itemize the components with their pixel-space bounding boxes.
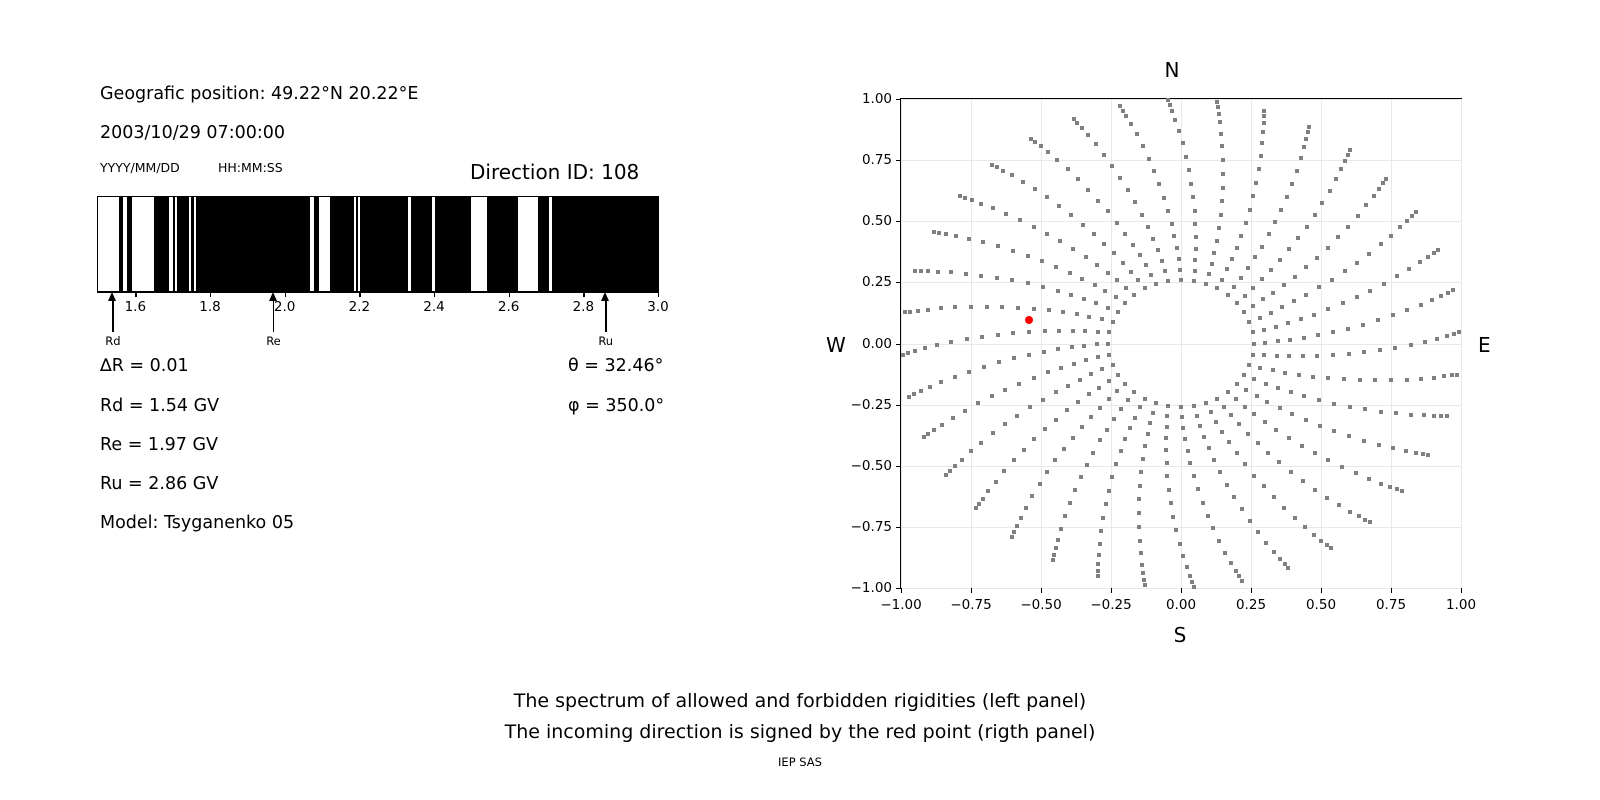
- direction-point: [1096, 562, 1100, 566]
- direction-point: [1043, 427, 1047, 431]
- direction-point: [949, 340, 953, 344]
- x-tick-label: −0.50: [1020, 597, 1061, 613]
- direction-point: [1218, 120, 1222, 124]
- direction-point: [1239, 276, 1243, 280]
- direction-point: [1084, 255, 1088, 259]
- direction-point: [1116, 310, 1120, 314]
- direction-point: [1062, 447, 1066, 451]
- direction-point: [1452, 332, 1456, 336]
- direction-point: [1016, 306, 1020, 310]
- direction-point: [1263, 341, 1267, 345]
- direction-point: [1180, 415, 1184, 419]
- direction-point: [1339, 167, 1343, 171]
- direction-point: [1361, 323, 1365, 327]
- direction-point: [1275, 354, 1279, 358]
- direction-point: [1096, 355, 1100, 359]
- direction-point: [1144, 263, 1148, 267]
- direction-point: [1193, 269, 1197, 273]
- direction-point: [1135, 132, 1139, 136]
- direction-point: [1435, 337, 1439, 341]
- direction-point: [979, 441, 983, 445]
- direction-point: [923, 346, 927, 350]
- x-tick-mark: [1321, 588, 1322, 593]
- direction-point: [1355, 261, 1359, 265]
- direction-point: [1257, 167, 1261, 171]
- direction-point: [1237, 574, 1241, 578]
- direction-point: [1246, 432, 1250, 436]
- direction-point: [1409, 343, 1413, 347]
- direction-point: [982, 365, 986, 369]
- direction-point: [1244, 221, 1248, 225]
- direction-point: [1261, 130, 1265, 134]
- direction-point: [1409, 413, 1413, 417]
- direction-point: [1348, 148, 1352, 152]
- direction-point: [1226, 390, 1230, 394]
- direction-point: [1343, 269, 1347, 273]
- direction-point: [1215, 239, 1219, 243]
- direction-point: [1107, 397, 1111, 401]
- direction-point: [1026, 281, 1030, 285]
- direction-point: [1201, 501, 1205, 505]
- param-phi: φ = 350.0°: [568, 396, 664, 416]
- direction-point: [1076, 400, 1080, 404]
- direction-point: [1021, 180, 1025, 184]
- direction-point: [1166, 209, 1170, 213]
- rigidity-spectrum-bar: [97, 196, 659, 292]
- direction-point: [1391, 446, 1395, 450]
- direction-point: [1085, 463, 1089, 467]
- direction-point: [1003, 388, 1007, 392]
- direction-point: [1143, 444, 1147, 448]
- direction-point: [1313, 213, 1317, 217]
- param-ru: Ru = 2.86 GV: [100, 474, 218, 494]
- axis-tick: [135, 292, 136, 297]
- direction-point: [1140, 213, 1144, 217]
- direction-point: [1190, 580, 1194, 584]
- direction-point: [1234, 397, 1238, 401]
- direction-point: [1430, 298, 1434, 302]
- direction-point: [1332, 429, 1336, 433]
- direction-point: [1373, 378, 1377, 382]
- gridline-horizontal: [901, 160, 1461, 161]
- direction-point: [1043, 329, 1047, 333]
- direction-point: [1181, 141, 1185, 145]
- direction-point: [1269, 311, 1273, 315]
- direction-point: [1052, 553, 1056, 557]
- direction-point: [964, 272, 968, 276]
- direction-point: [1274, 325, 1278, 329]
- axis-tick: [583, 292, 584, 297]
- direction-point: [1188, 461, 1192, 465]
- direction-point: [1124, 286, 1128, 290]
- direction-point: [1028, 405, 1032, 409]
- direction-point: [1022, 448, 1026, 452]
- direction-point: [1104, 502, 1108, 506]
- direction-point: [1082, 297, 1086, 301]
- direction-point: [1192, 279, 1196, 283]
- direction-point: [1251, 330, 1255, 334]
- direction-point: [1326, 246, 1330, 250]
- direction-point: [1063, 514, 1067, 518]
- direction-point: [1162, 196, 1166, 200]
- direction-point: [1287, 247, 1291, 251]
- direction-point: [1262, 109, 1266, 113]
- forbidden-band: [435, 197, 471, 291]
- direction-point: [970, 198, 974, 202]
- direction-point: [1267, 232, 1271, 236]
- direction-point: [1379, 242, 1383, 246]
- direction-point: [1054, 418, 1058, 422]
- direction-point: [913, 349, 917, 353]
- direction-point: [940, 423, 944, 427]
- direction-point: [1095, 342, 1099, 346]
- direction-point: [1256, 530, 1260, 534]
- direction-point: [1188, 574, 1192, 578]
- direction-point: [1089, 372, 1093, 376]
- direction-point: [1032, 307, 1036, 311]
- direction-point: [1219, 213, 1223, 217]
- x-tick-mark: [1041, 588, 1042, 593]
- direction-point: [1115, 278, 1119, 282]
- direction-point: [1015, 524, 1019, 528]
- direction-point: [1278, 406, 1282, 410]
- direction-point: [969, 305, 973, 309]
- direction-point: [1220, 199, 1224, 203]
- direction-point: [1126, 188, 1130, 192]
- direction-point: [1133, 416, 1137, 420]
- gridline-horizontal: [901, 466, 1461, 467]
- direction-point: [1012, 356, 1016, 360]
- direction-point: [1282, 283, 1286, 287]
- direction-point: [1140, 563, 1144, 567]
- direction-point: [1116, 373, 1120, 377]
- direction-point: [1384, 177, 1388, 181]
- direction-point: [1204, 401, 1208, 405]
- direction-point: [1379, 410, 1383, 414]
- direction-point: [1272, 495, 1276, 499]
- direction-point: [1418, 260, 1422, 264]
- direction-point: [1179, 405, 1183, 409]
- direction-point: [979, 202, 983, 206]
- direction-point: [1455, 373, 1459, 377]
- direction-point: [995, 276, 999, 280]
- direction-id-label: Direction ID: 108: [470, 160, 639, 184]
- axis-tick: [359, 292, 360, 297]
- direction-point: [1107, 353, 1111, 357]
- direction-point: [1143, 583, 1147, 587]
- direction-point: [1219, 132, 1223, 136]
- direction-point: [913, 269, 917, 273]
- direction-point: [1185, 565, 1189, 569]
- direction-point: [1169, 501, 1173, 505]
- direction-point: [1265, 400, 1269, 404]
- direction-point: [1313, 488, 1317, 492]
- direction-point: [1045, 195, 1049, 199]
- direction-point: [1247, 363, 1251, 367]
- direction-point: [958, 194, 962, 198]
- direction-point: [1096, 574, 1100, 578]
- direction-point: [1177, 129, 1181, 133]
- direction-point: [1302, 394, 1306, 398]
- incoming-direction-marker: [1025, 316, 1033, 324]
- rigidity-spectrum-panel: Geografic position: 49.22°N 20.22°E 2003…: [0, 0, 760, 660]
- x-tick-label: 0.50: [1306, 597, 1336, 613]
- direction-point: [1165, 414, 1169, 418]
- direction-point: [1251, 194, 1255, 198]
- direction-point: [1054, 265, 1058, 269]
- direction-point: [1071, 436, 1075, 440]
- forbidden-band: [191, 197, 194, 291]
- direction-point: [1260, 141, 1264, 145]
- direction-point: [1040, 259, 1044, 263]
- direction-point: [1202, 435, 1206, 439]
- direction-point: [1254, 181, 1258, 185]
- direction-point: [1312, 313, 1316, 317]
- direction-point: [1261, 297, 1265, 301]
- direction-point: [1326, 307, 1330, 311]
- direction-point: [1165, 425, 1169, 429]
- x-tick-label: −0.75: [950, 597, 991, 613]
- direction-point: [1389, 234, 1393, 238]
- direction-point: [1059, 366, 1063, 370]
- compass-north-label: N: [1165, 58, 1180, 82]
- direction-point: [1154, 401, 1158, 405]
- axis-tick: [509, 292, 510, 297]
- direction-point: [1259, 154, 1263, 158]
- direction-point: [1252, 474, 1256, 478]
- direction-point: [1123, 301, 1127, 305]
- x-tick-mark: [1181, 588, 1182, 593]
- axis-tick-label: 2.2: [349, 299, 370, 315]
- forbidden-band: [127, 197, 131, 291]
- direction-point: [1446, 291, 1450, 295]
- direction-point: [1168, 103, 1172, 107]
- direction-point: [954, 234, 958, 238]
- forbidden-band: [552, 197, 658, 291]
- direction-point: [1262, 114, 1266, 118]
- direction-point: [1326, 458, 1330, 462]
- direction-point: [1137, 525, 1141, 529]
- direction-point: [1280, 305, 1284, 309]
- direction-point: [939, 380, 943, 384]
- direction-point: [1096, 199, 1100, 203]
- y-tick-label: −0.25: [851, 397, 892, 413]
- direction-point: [1290, 182, 1294, 186]
- direction-point: [1262, 328, 1266, 332]
- x-tick-mark: [1111, 588, 1112, 593]
- y-tick-label: 0.25: [862, 274, 892, 290]
- direction-point: [1271, 368, 1275, 372]
- direction-point: [1317, 285, 1321, 289]
- direction-point: [951, 416, 955, 420]
- direction-point: [1033, 140, 1037, 144]
- direction-point: [1119, 407, 1123, 411]
- y-tick-label: 0.00: [862, 336, 892, 352]
- y-tick-label: 0.50: [862, 213, 892, 229]
- direction-point: [1423, 340, 1427, 344]
- gridline-horizontal: [901, 527, 1461, 528]
- direction-point: [1068, 501, 1072, 505]
- direction-point: [1003, 422, 1007, 426]
- direction-point: [1099, 529, 1103, 533]
- direction-point: [1277, 460, 1281, 464]
- direction-point: [974, 506, 978, 510]
- direction-point: [1227, 440, 1231, 444]
- direction-point: [1264, 382, 1268, 386]
- direction-point: [1439, 414, 1443, 418]
- direction-point: [1165, 474, 1169, 478]
- direction-point: [1248, 208, 1252, 212]
- y-tick-mark: [896, 160, 901, 161]
- direction-point: [1081, 223, 1085, 227]
- y-tick-mark: [896, 344, 901, 345]
- direction-point: [1010, 278, 1014, 282]
- compass-east-label: E: [1478, 333, 1491, 357]
- direction-point: [1111, 363, 1115, 367]
- direction-point: [1193, 222, 1197, 226]
- direction-point: [908, 310, 912, 314]
- caption-line-2: The incoming direction is signed by the …: [0, 717, 1600, 748]
- direction-point: [1356, 214, 1360, 218]
- direction-point: [1363, 518, 1367, 522]
- axis-tick-label: 2.6: [498, 299, 519, 315]
- direction-point: [1331, 330, 1335, 334]
- direction-point: [1405, 378, 1409, 382]
- direction-point: [1252, 342, 1256, 346]
- axis-tick: [658, 292, 659, 297]
- direction-point: [1355, 295, 1359, 299]
- direction-point: [944, 473, 948, 477]
- direction-point: [1251, 353, 1255, 357]
- direction-point: [965, 337, 969, 341]
- direction-point: [1105, 428, 1109, 432]
- direction-point: [1198, 424, 1202, 428]
- param-re: Re = 1.97 GV: [100, 435, 218, 455]
- direction-point: [1206, 514, 1210, 518]
- direction-point: [1129, 270, 1133, 274]
- forbidden-band: [196, 197, 311, 291]
- direction-point: [1138, 484, 1142, 488]
- direction-point: [1253, 255, 1257, 259]
- direction-point: [1393, 346, 1397, 350]
- direction-point: [1269, 268, 1273, 272]
- direction-point: [1216, 105, 1220, 109]
- direction-point: [1186, 449, 1190, 453]
- direction-point: [1303, 525, 1307, 529]
- direction-point: [1075, 121, 1079, 125]
- direction-point: [1263, 420, 1267, 424]
- direction-point: [1405, 308, 1409, 312]
- direction-point: [1183, 437, 1187, 441]
- direction-point: [1010, 535, 1014, 539]
- x-tick-label: 1.00: [1446, 597, 1476, 613]
- direction-point: [1354, 471, 1358, 475]
- direction-point: [1136, 278, 1140, 282]
- direction-point: [1011, 249, 1015, 253]
- direction-point: [1032, 437, 1036, 441]
- direction-point: [1414, 451, 1418, 455]
- direction-point: [994, 480, 998, 484]
- direction-point: [1041, 285, 1045, 289]
- direction-point: [1325, 543, 1329, 547]
- direction-point: [1342, 377, 1346, 381]
- direction-point: [1357, 514, 1361, 518]
- direction-point: [1156, 248, 1160, 252]
- y-tick-mark: [896, 527, 901, 528]
- direction-point: [1260, 245, 1264, 249]
- direction-point: [1388, 485, 1392, 489]
- direction-point: [1209, 410, 1213, 414]
- direction-point: [1426, 255, 1430, 259]
- direction-point: [1045, 232, 1049, 236]
- param-rd: Rd = 1.54 GV: [100, 396, 219, 416]
- direction-point: [1087, 315, 1091, 319]
- direction-point: [1264, 541, 1268, 545]
- direction-point: [1273, 220, 1277, 224]
- direction-point: [1041, 398, 1045, 402]
- axis-tick: [210, 292, 211, 297]
- direction-point: [1066, 167, 1070, 171]
- direction-point: [1056, 347, 1060, 351]
- arrow-shaft: [273, 299, 274, 332]
- direction-point: [1229, 561, 1233, 565]
- direction-point: [1405, 219, 1409, 223]
- direction-point: [1419, 377, 1423, 381]
- direction-point: [1256, 441, 1260, 445]
- y-tick-mark: [896, 588, 901, 589]
- direction-point: [1286, 321, 1290, 325]
- direction-point: [1126, 398, 1130, 402]
- direction-point: [1148, 421, 1152, 425]
- direction-point: [1196, 487, 1200, 491]
- direction-point: [1170, 222, 1174, 226]
- direction-point: [1222, 405, 1226, 409]
- gridline-horizontal: [901, 221, 1461, 222]
- direction-plot-area: −1.00−0.75−0.50−0.250.000.250.500.751.00…: [900, 98, 1462, 589]
- axis-tick-label: 2.4: [423, 299, 444, 315]
- direction-point: [1407, 267, 1411, 271]
- direction-point: [1154, 282, 1158, 286]
- direction-point: [1093, 283, 1097, 287]
- direction-point: [1097, 386, 1101, 390]
- direction-point: [1193, 258, 1197, 262]
- direction-point: [1343, 159, 1347, 163]
- direction-point: [1017, 382, 1021, 386]
- y-tick-label: −0.75: [851, 519, 892, 535]
- direction-point: [1242, 310, 1246, 314]
- direction-point: [967, 237, 971, 241]
- direction-point: [1179, 278, 1183, 282]
- direction-point: [1102, 153, 1106, 157]
- direction-point: [1379, 482, 1383, 486]
- direction-point: [1381, 181, 1385, 185]
- direction-point: [1243, 294, 1247, 298]
- direction-point: [1304, 265, 1308, 269]
- direction-point: [1306, 130, 1310, 134]
- forbidden-band: [356, 197, 358, 291]
- direction-point: [1328, 189, 1332, 193]
- direction-point: [1030, 494, 1034, 498]
- direction-point: [1171, 515, 1175, 519]
- x-tick-mark: [1251, 588, 1252, 593]
- direction-point: [976, 401, 980, 405]
- direction-point: [1422, 413, 1426, 417]
- direction-point: [1123, 232, 1127, 236]
- direction-point: [1363, 407, 1367, 411]
- footer-credit: IEP SAS: [0, 755, 1600, 769]
- direction-point: [1065, 408, 1069, 412]
- direction-point: [1243, 405, 1247, 409]
